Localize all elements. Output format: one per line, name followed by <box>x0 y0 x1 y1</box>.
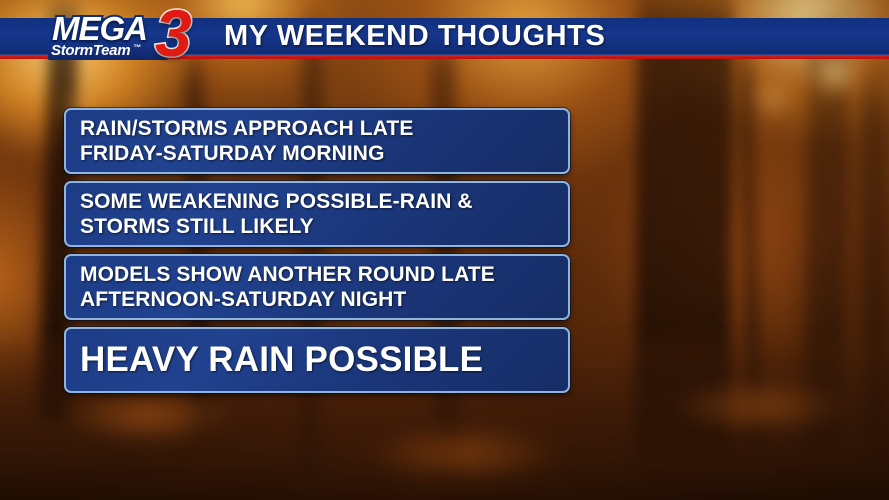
panel-3-line-1: MODELS SHOW ANOTHER ROUND LATE <box>80 262 554 287</box>
logo-channel-number: 3 <box>155 0 192 66</box>
storm-team-label: StormTeam <box>51 42 130 59</box>
forecast-panel-1: RAIN/STORMS APPROACH LATE FRIDAY-SATURDA… <box>64 108 570 174</box>
forecast-panel-3: MODELS SHOW ANOTHER ROUND LATE AFTERNOON… <box>64 254 570 320</box>
logo-storm-team-text: StormTeam ™ <box>51 41 141 60</box>
panel-2-line-2: STORMS STILL LIKELY <box>80 214 554 239</box>
panel-2-line-1: SOME WEAKENING POSSIBLE-RAIN & <box>80 189 554 214</box>
panel-4-line-1: HEAVY RAIN POSSIBLE <box>80 340 554 380</box>
forecast-panel-4: HEAVY RAIN POSSIBLE <box>64 327 570 393</box>
panel-1-line-1: RAIN/STORMS APPROACH LATE <box>80 116 554 141</box>
trademark-symbol: ™ <box>133 43 141 52</box>
page-title: MY WEEKEND THOUGHTS <box>224 18 605 55</box>
forecast-panel-list: RAIN/STORMS APPROACH LATE FRIDAY-SATURDA… <box>64 108 570 400</box>
panel-3-line-2: AFTERNOON-SATURDAY NIGHT <box>80 287 554 312</box>
weather-graphic-screen: MY WEEKEND THOUGHTS MEGA StormTeam ™ 3 R… <box>0 0 889 500</box>
forecast-panel-2: SOME WEAKENING POSSIBLE-RAIN & STORMS ST… <box>64 181 570 247</box>
panel-1-line-2: FRIDAY-SATURDAY MORNING <box>80 141 554 166</box>
station-logo: MEGA StormTeam ™ 3 <box>48 8 220 66</box>
